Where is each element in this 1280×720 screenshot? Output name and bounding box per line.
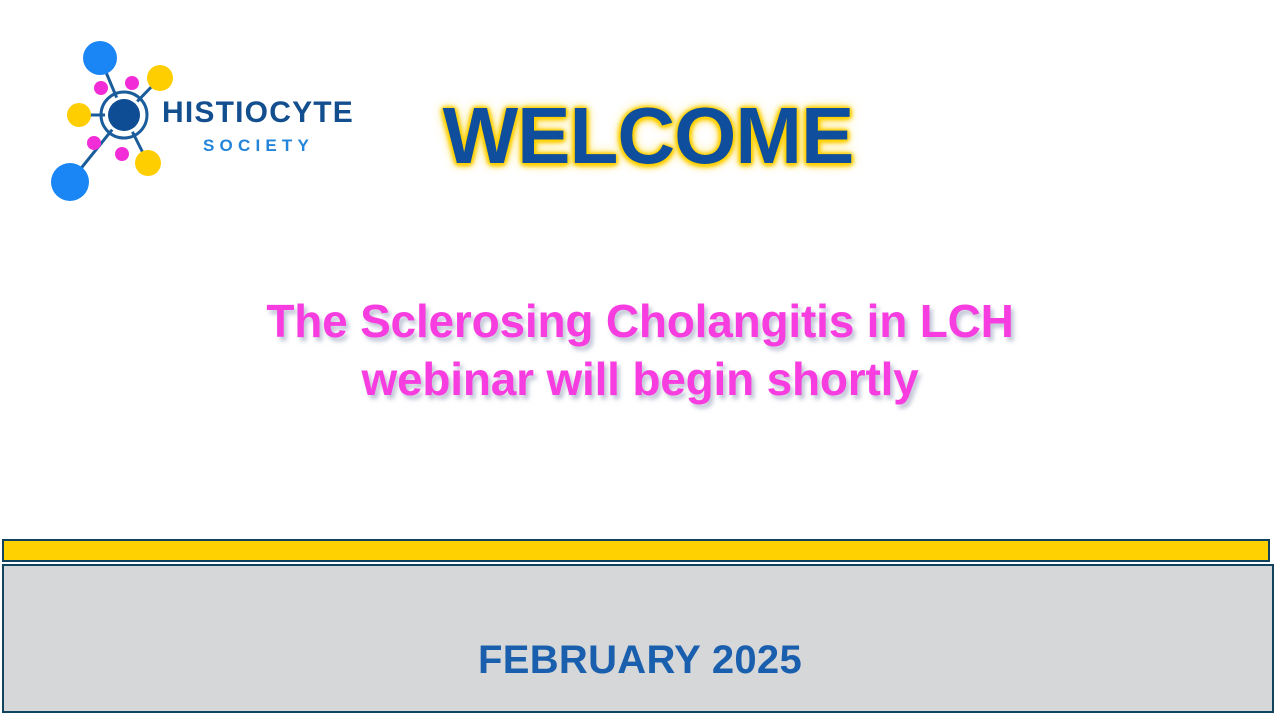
welcome-heading-text: WELCOME [443, 96, 854, 176]
bottom-banner: FEBRUARY 2025 [2, 539, 1274, 713]
node-top-right-yellow [147, 65, 173, 91]
webinar-subtitle-line-1: The Sclerosing Cholangitis in LCH [0, 292, 1280, 350]
node-top-left-blue [83, 41, 117, 75]
banner-date-text: FEBRUARY 2025 [4, 640, 1276, 680]
webinar-subtitle: The Sclerosing Cholangitis in LCH webina… [0, 292, 1280, 408]
dot-upper-right-magenta [125, 76, 139, 90]
banner-accent-bar [2, 539, 1270, 562]
welcome-slide: HISTIOCYTE SOCIETY WELCOME The Sclerosin… [0, 0, 1280, 720]
dot-upper-left-magenta [94, 81, 108, 95]
welcome-heading: WELCOME [0, 96, 1280, 176]
webinar-subtitle-line-2: webinar will begin shortly [0, 350, 1280, 408]
banner-panel: FEBRUARY 2025 [2, 564, 1274, 713]
